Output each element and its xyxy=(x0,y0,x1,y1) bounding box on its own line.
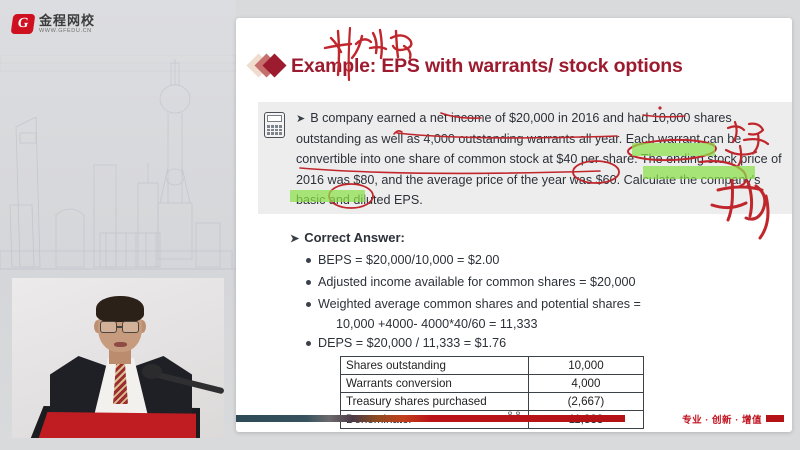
question-text-wrapper: ➤B company earned a net income of $20,00… xyxy=(296,108,784,210)
footer-gradient-bar xyxy=(236,415,625,422)
answer-heading-label: Correct Answer: xyxy=(304,230,405,245)
answer-item-0: BEPS = $20,000/10,000 = $2.00 xyxy=(318,251,499,270)
row-label: Treasury shares purchased xyxy=(341,393,529,411)
table-row: Warrants conversion 4,000 xyxy=(341,375,644,393)
row-value: (2,667) xyxy=(528,393,643,411)
answer-item-1: Adjusted income available for common sha… xyxy=(318,273,635,292)
bullet-dot-icon xyxy=(306,280,311,285)
brand-name-label: 金程网校 xyxy=(39,14,95,27)
footer-dash-mark xyxy=(766,415,784,422)
brand-url-label: WWW.GFEDU.CN xyxy=(39,29,95,35)
list-item: DEPS = $20,000 / 11,333 = $1.76 xyxy=(306,334,760,353)
answer-formula: 10,000 +4000- 4000*40/60 = 11,333 xyxy=(336,317,760,331)
brand-text: 金程网校 WWW.GFEDU.CN xyxy=(39,14,95,35)
arrow-bullet-icon: ➤ xyxy=(290,233,299,245)
list-item: Weighted average common shares and poten… xyxy=(306,295,760,314)
brand-logo: G 金程网校 WWW.GFEDU.CN xyxy=(12,14,95,35)
calculator-icon xyxy=(264,112,285,138)
answer-item-3: DEPS = $20,000 / 11,333 = $1.76 xyxy=(318,334,506,353)
answer-heading: ➤Correct Answer: xyxy=(290,230,760,245)
screen-recording-frame: G 金程网校 WWW.GFEDU.CN xyxy=(0,0,800,450)
highlight-40-per xyxy=(632,143,715,156)
slide-title-row: Example: EPS with warrants/ stock option… xyxy=(250,54,683,78)
footer-tagline: 专业 · 创新 · 增值 xyxy=(682,412,762,426)
microphone-icon xyxy=(142,364,162,379)
list-item: Adjusted income available for common sha… xyxy=(306,273,760,292)
arrow-bullet-icon: ➤ xyxy=(296,113,305,125)
answer-block: ➤Correct Answer: BEPS = $20,000/10,000 =… xyxy=(290,230,760,356)
bullet-dot-icon xyxy=(306,302,311,307)
bullet-dot-icon xyxy=(306,341,311,346)
instructor-panel: G 金程网校 WWW.GFEDU.CN xyxy=(0,0,236,450)
highlight-the-year-was xyxy=(290,190,365,202)
eyeglass-right xyxy=(122,321,139,333)
list-item: BEPS = $20,000/10,000 = $2.00 xyxy=(306,251,760,270)
mouth xyxy=(114,342,127,347)
table-row: Shares outstanding 10,000 xyxy=(341,357,644,375)
presentation-slide: Example: EPS with warrants/ stock option… xyxy=(236,18,792,432)
shanghai-skyline-watermark xyxy=(0,55,236,295)
answer-item-2: Weighted average common shares and poten… xyxy=(318,295,641,314)
gfedu-logo-icon: G xyxy=(11,14,36,34)
row-value: 10,000 xyxy=(528,357,643,375)
row-label: Shares outstanding xyxy=(341,357,529,375)
hair xyxy=(96,296,144,322)
table-row: Treasury shares purchased (2,667) xyxy=(341,393,644,411)
bullet-dot-icon xyxy=(306,258,311,263)
highlight-average-price xyxy=(643,166,755,179)
podium-front xyxy=(38,412,196,438)
diamond-bullet-icon xyxy=(250,54,284,78)
eyeglass-bridge xyxy=(117,326,122,328)
row-value: 4,000 xyxy=(528,375,643,393)
instructor-video[interactable] xyxy=(12,278,224,438)
question-text: B company earned a net income of $20,000… xyxy=(296,111,782,207)
eyeglass-left xyxy=(100,321,117,333)
page-title: Example: EPS with warrants/ stock option… xyxy=(291,55,683,78)
row-label: Warrants conversion xyxy=(341,375,529,393)
